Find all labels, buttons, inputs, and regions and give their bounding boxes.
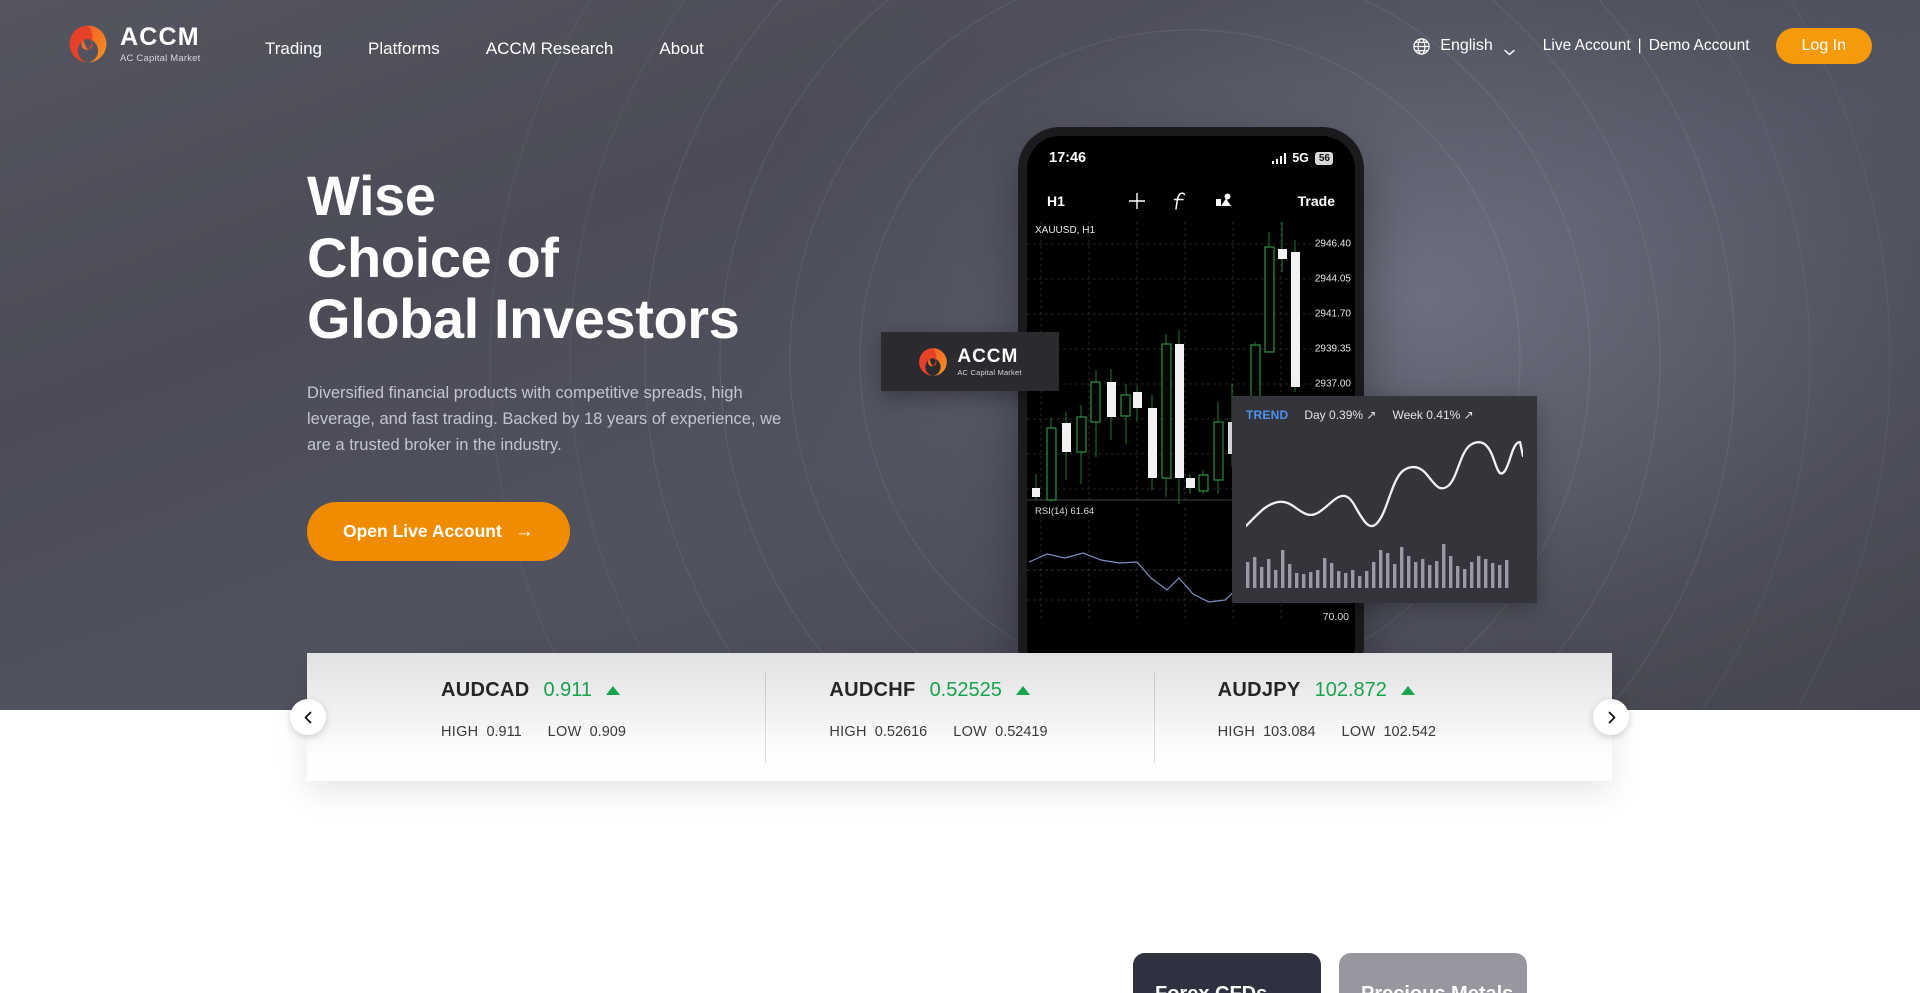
hero-title-line-1: Wise [307, 165, 867, 227]
brand-logo-text: ACCM AC Capital Market [120, 25, 200, 64]
ticker-symbol: AUDCAD [441, 679, 529, 702]
signal-icon [1272, 153, 1287, 164]
chevron-down-icon [1504, 43, 1515, 50]
main-nav: Trading Platforms ACCM Research About [265, 33, 727, 65]
product-card-title: Forex CFDs [1155, 983, 1321, 993]
ticker-low: LOW102.542 [1342, 724, 1436, 740]
account-links: Live Account | Demo Account [1543, 37, 1750, 55]
trend-title: TREND [1246, 408, 1288, 422]
trend-day-stat: Day 0.39% ↗ [1304, 408, 1376, 422]
low-value: 102.542 [1383, 724, 1435, 740]
high-value: 0.52616 [875, 724, 927, 740]
ticker-price: 0.911 [543, 679, 592, 702]
ticker-item[interactable]: AUDCAD 0.911 HIGH0.911 LOW0.909 [377, 653, 765, 781]
globe-icon [1412, 37, 1431, 56]
ticker-bottom-row: HIGH0.911 LOW0.909 [441, 724, 765, 740]
high-label: HIGH [829, 724, 866, 740]
high-label: HIGH [1218, 724, 1255, 740]
trend-week-label: Week [1392, 408, 1422, 422]
ticker-list: AUDCAD 0.911 HIGH0.911 LOW0.909 AUDCHF 0 [307, 653, 1612, 781]
timeframe-label[interactable]: H1 [1047, 193, 1065, 209]
low-value: 0.909 [590, 724, 626, 740]
trend-week-value: 0.41% [1426, 408, 1460, 422]
live-account-link[interactable]: Live Account [1543, 37, 1631, 55]
hero-title-line-3: Global Investors [307, 288, 867, 350]
ticker-top-row: AUDCAD 0.911 [441, 679, 765, 702]
trend-header: TREND Day 0.39% ↗ Week 0.41% ↗ [1246, 408, 1523, 422]
network-label: 5G [1292, 151, 1309, 165]
product-card-title: Precious Metals [1361, 983, 1527, 993]
badge-brand-tagline: AC Capital Market [957, 369, 1021, 377]
demo-account-link[interactable]: Demo Account [1649, 37, 1750, 55]
chart-symbol-label: XAUUSD, H1 [1035, 225, 1095, 236]
ticker-price: 0.52525 [930, 679, 1002, 702]
ticker-symbol: AUDJPY [1218, 679, 1301, 702]
battery-icon: 56 [1315, 152, 1333, 165]
nav-item-accm-research[interactable]: ACCM Research [463, 33, 637, 65]
high-value: 103.084 [1263, 724, 1315, 740]
hero-content: Wise Choice of Global Investors Diversif… [307, 165, 867, 561]
low-label: LOW [548, 724, 582, 740]
brand-logo[interactable]: ACCM AC Capital Market [68, 24, 200, 64]
indicator-icon[interactable] [1215, 192, 1235, 210]
nav-item-trading[interactable]: Trading [265, 33, 345, 65]
crosshair-icon[interactable] [1127, 191, 1147, 211]
account-link-separator: | [1638, 37, 1642, 55]
ticker-item[interactable]: AUDJPY 102.872 HIGH103.084 LOW102.542 [1154, 653, 1542, 781]
hero-subtitle: Diversified financial products with comp… [307, 380, 807, 458]
badge-brand-name: ACCM [957, 347, 1021, 366]
login-button[interactable]: Log In [1776, 28, 1872, 64]
carousel-prev-button[interactable] [290, 699, 326, 735]
caret-up-icon [1016, 686, 1030, 695]
hero-title-line-2: Choice of [307, 227, 867, 289]
price-tick-2: 2941.70 [1315, 309, 1351, 320]
accm-badge-overlay: ACCM AC Capital Market [881, 332, 1059, 391]
ticker-item[interactable]: AUDCHF 0.52525 HIGH0.52616 LOW0.52419 [765, 653, 1153, 781]
chevron-right-icon [1605, 711, 1618, 724]
status-time: 17:46 [1049, 150, 1086, 166]
trend-week-arrow-icon: ↗ [1464, 408, 1474, 422]
toolbar-icons [1127, 191, 1235, 211]
language-selector[interactable]: English [1412, 37, 1514, 56]
rsi-label: RSI(14) 61.64 [1035, 506, 1094, 517]
accm-logo-icon [918, 347, 948, 377]
ticker-symbol: AUDCHF [829, 679, 915, 702]
price-tick-0: 2946.40 [1315, 239, 1351, 250]
product-card-forex-cfds[interactable]: Forex CFDs [1133, 953, 1321, 993]
cta-label: Open Live Account [343, 521, 502, 542]
ticker-low: LOW0.52419 [953, 724, 1047, 740]
badge-logo-text: ACCM AC Capital Market [957, 347, 1021, 377]
caret-up-icon [1401, 686, 1415, 695]
arrow-right-icon: → [515, 522, 534, 541]
open-live-account-button[interactable]: Open Live Account → [307, 502, 570, 561]
trend-day-arrow-icon: ↗ [1366, 408, 1376, 422]
hero-title: Wise Choice of Global Investors [307, 165, 867, 350]
page-root: ACCM AC Capital Market Trading Platforms… [0, 0, 1920, 993]
low-value: 0.52419 [995, 724, 1047, 740]
price-tick-3: 2939.35 [1315, 344, 1351, 355]
rsi-level-label: 70.00 [1323, 611, 1349, 623]
ticker-bottom-row: HIGH0.52616 LOW0.52419 [829, 724, 1153, 740]
trend-panel: TREND Day 0.39% ↗ Week 0.41% ↗ [1232, 396, 1537, 603]
ticker-carousel: AUDCAD 0.911 HIGH0.911 LOW0.909 AUDCHF 0 [307, 653, 1612, 781]
ticker-bottom-row: HIGH103.084 LOW102.542 [1218, 724, 1542, 740]
carousel-next-button[interactable] [1593, 699, 1629, 735]
phone-status-bar: 17:46 5G 56 [1027, 136, 1355, 180]
price-tick-1: 2944.05 [1315, 274, 1351, 285]
ticker-price: 102.872 [1315, 679, 1387, 702]
caret-up-icon [606, 686, 620, 695]
product-cards: Forex CFDs Precious Metals [1133, 953, 1527, 993]
status-right: 5G 56 [1272, 151, 1333, 165]
language-label: English [1440, 37, 1492, 55]
price-tick-4: 2937.00 [1315, 379, 1351, 390]
brand-tagline: AC Capital Market [120, 54, 200, 64]
high-value: 0.911 [486, 724, 521, 740]
function-icon[interactable] [1173, 191, 1189, 211]
header-actions: English Live Account | Demo Account Log … [1412, 28, 1872, 64]
site-header: ACCM AC Capital Market Trading Platforms… [0, 0, 1920, 95]
trade-button[interactable]: Trade [1298, 193, 1335, 209]
brand-name: ACCM [120, 25, 200, 50]
chart-toolbar: H1 [1027, 180, 1355, 222]
ticker-top-row: AUDJPY 102.872 [1218, 679, 1542, 702]
accm-logo-icon [68, 24, 108, 64]
nav-item-about[interactable]: About [636, 33, 726, 65]
low-label: LOW [953, 724, 987, 740]
product-card-precious-metals[interactable]: Precious Metals [1339, 953, 1527, 993]
trend-day-value: 0.39% [1329, 408, 1363, 422]
ticker-low: LOW0.909 [548, 724, 626, 740]
trend-sparkline [1246, 426, 1523, 601]
ticker-high: HIGH103.084 [1218, 724, 1316, 740]
ticker-high: HIGH0.911 [441, 724, 522, 740]
trend-day-label: Day [1304, 408, 1325, 422]
trend-week-stat: Week 0.41% ↗ [1392, 408, 1473, 422]
ticker-top-row: AUDCHF 0.52525 [829, 679, 1153, 702]
nav-item-platforms[interactable]: Platforms [345, 33, 463, 65]
high-label: HIGH [441, 724, 478, 740]
low-label: LOW [1342, 724, 1376, 740]
chevron-left-icon [302, 711, 315, 724]
ticker-high: HIGH0.52616 [829, 724, 927, 740]
